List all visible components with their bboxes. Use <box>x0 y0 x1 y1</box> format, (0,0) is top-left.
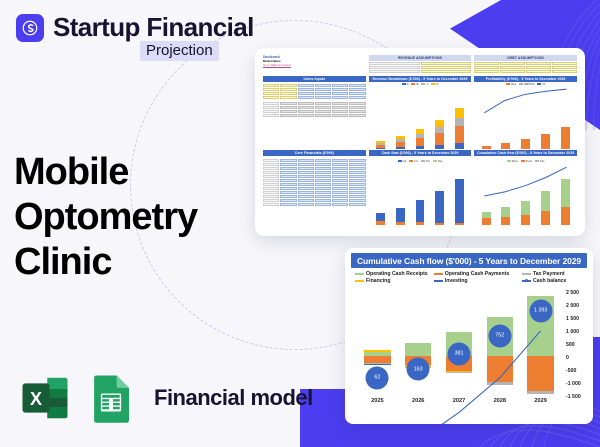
google-sheets-icon <box>84 371 138 425</box>
chart-plot-area: 62 163 381 752 1 393 <box>357 288 561 396</box>
profitability-chart: Profitability ($'000) - 5 Years to Decem… <box>474 76 577 147</box>
data-label-2027: 381 <box>448 342 471 365</box>
footer-badges: X Financial model <box>18 371 313 425</box>
legend-label: Investing <box>445 278 468 284</box>
y-tick: -1 500 <box>566 394 590 400</box>
legend-label: Cash balance <box>533 278 566 284</box>
y-tick: -500 <box>566 368 590 374</box>
microsoft-excel-icon: X <box>18 371 72 425</box>
y-tick: 2 000 <box>566 303 590 309</box>
cashflow-chart: Op Inv Fin Net <box>369 159 472 230</box>
chart-title: Cumulative Cash flow ($'000) - 5 Years t… <box>351 253 587 268</box>
y-tick: 2 500 <box>566 290 590 296</box>
data-label-2028: 752 <box>488 324 511 347</box>
revenue-chart-legend: A B C D <box>369 82 472 86</box>
brand-subtitle: Projection <box>140 41 219 61</box>
core-financials-bar: Core Financials ($'000) <box>263 150 366 156</box>
brand-lockup: Startup Financial <box>16 12 254 43</box>
chart-y-axis: 2 500 2 000 1 500 1 000 500 0 -500 -1 00… <box>566 290 590 400</box>
data-label-2026: 163 <box>407 358 430 381</box>
revenue-assumptions-block: REVENUE ASSUMPTIONS <box>369 55 472 73</box>
legend-label: Operating Cash Payments <box>445 271 510 277</box>
legend-label: Tax Payment <box>533 271 565 277</box>
brand-name: Startup Financial <box>53 12 254 43</box>
chart-legend: Operating Cash Receipts Operating Cash P… <box>355 271 585 284</box>
legend-item-cash-balance: Cash balance <box>522 278 585 284</box>
page-title: Mobile Optometry Clinic <box>14 150 254 284</box>
y-tick: 0 <box>566 355 590 361</box>
legend-label: Financing <box>366 278 391 284</box>
svg-text:X: X <box>30 389 42 409</box>
dashboard-header-block: Dashboard Model Name Go to Table of Cont… <box>263 55 366 73</box>
legend-item-operating-cash-payments: Operating Cash Payments <box>434 271 522 277</box>
cumulative-cashflow-card: Cumulative Cash flow ($'000) - 5 Years t… <box>345 248 593 424</box>
revenue-breakdown-chart: Revenue Breakdown ($'000) - 5 Years to D… <box>369 76 472 147</box>
core-financials-table <box>263 159 366 230</box>
cashflow-chart-legend: Op Inv Fin Net <box>369 159 472 163</box>
users-inputs-panel: Users Inputs <box>263 76 366 147</box>
debt-wc-assumptions-block: DEBT ASSUMPTIONS <box>474 55 577 73</box>
y-tick: -1 000 <box>566 381 590 387</box>
y-tick: 500 <box>566 342 590 348</box>
y-tick: 1 500 <box>566 316 590 322</box>
y-tick: 1 000 <box>566 329 590 335</box>
legend-item-operating-cash-receipts: Operating Cash Receipts <box>355 271 434 277</box>
footer-label: Financial model <box>154 385 313 411</box>
data-label-2029: 1 393 <box>529 299 552 322</box>
dashboard-toc-link: Go to Table of Content <box>263 63 366 67</box>
data-label-2025: 62 <box>366 366 389 389</box>
legend-item-financing: Financing <box>355 278 434 284</box>
swirl-logo-icon <box>16 14 44 42</box>
legend-item-investing: Investing <box>434 278 522 284</box>
legend-item-tax-payment: Tax Payment <box>522 271 585 277</box>
cumulative-cashflow-mini-chart: Rcpt Pymt Tax <box>474 159 577 230</box>
dashboard-preview-card: Dashboard Model Name Go to Table of Cont… <box>255 48 585 236</box>
legend-label: Operating Cash Receipts <box>366 271 428 277</box>
